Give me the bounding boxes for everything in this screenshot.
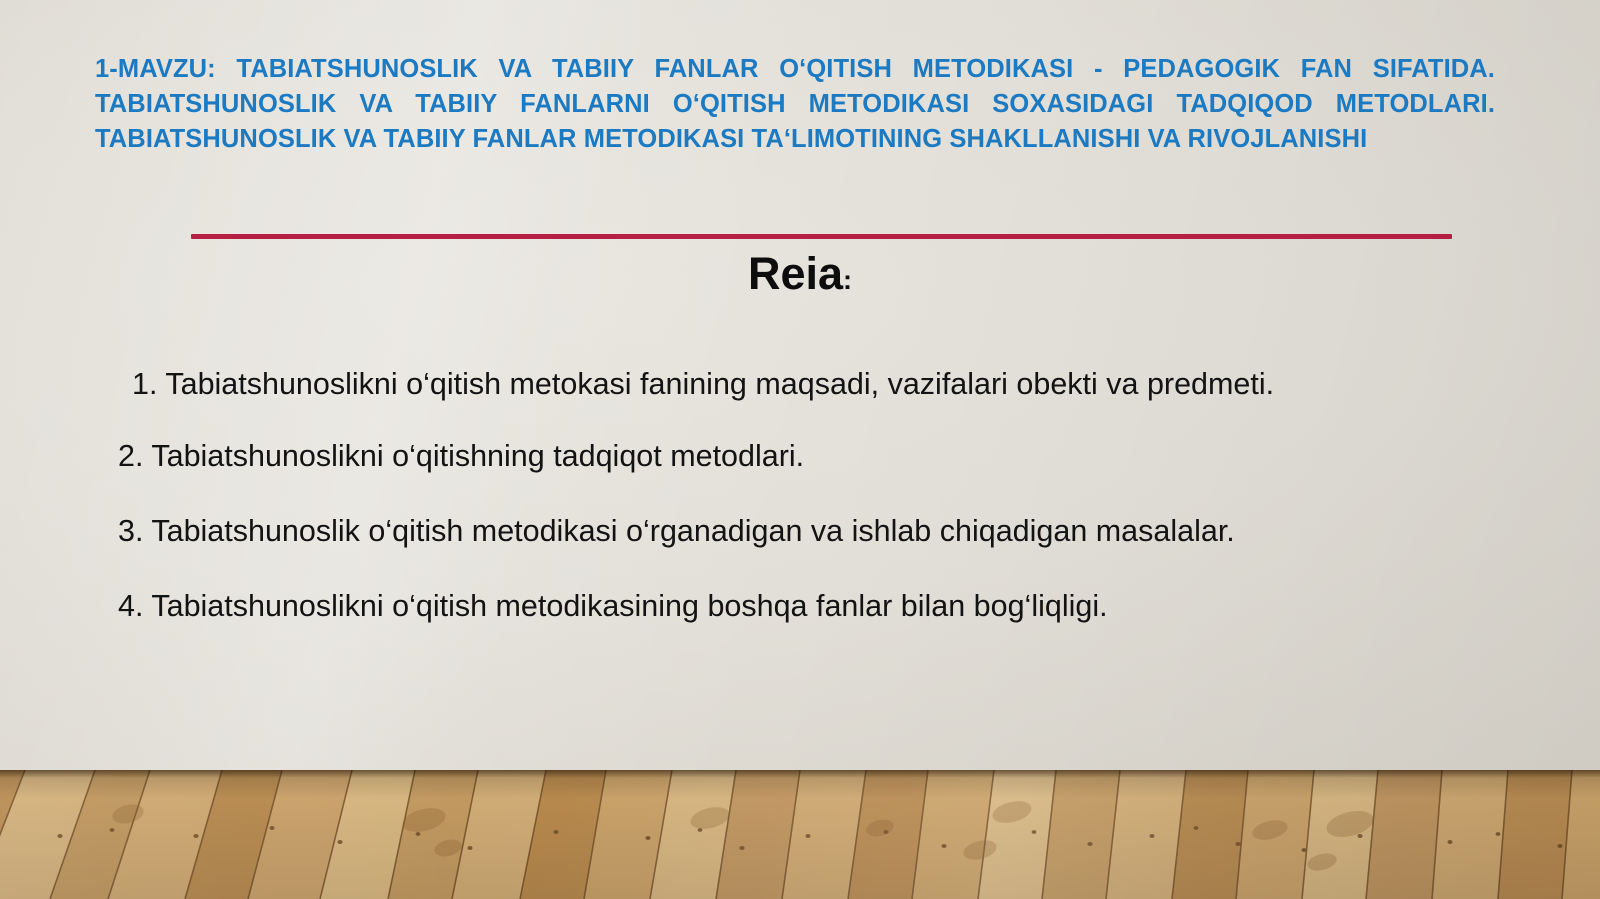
section-heading-text: Reia xyxy=(748,248,843,299)
list-item: 2. Tabiatshunoslikni o‘qitishning tadqiq… xyxy=(118,424,1452,488)
list-item: 1. Tabiatshunoslikni o‘qitish metokasi f… xyxy=(118,352,1452,416)
slide-content: 1-MAVZU: TABIATSHUNOSLIK VA TABIIY FANLA… xyxy=(0,0,1600,899)
presentation-slide: 1-MAVZU: TABIATSHUNOSLIK VA TABIIY FANLA… xyxy=(0,0,1600,899)
section-heading: Reia: xyxy=(0,246,1600,308)
page-title: 1-MAVZU: TABIATSHUNOSLIK VA TABIIY FANLA… xyxy=(95,52,1495,157)
title-divider-rule xyxy=(191,234,1452,239)
list-item: 4. Tabiatshunoslikni o‘qitish metodikasi… xyxy=(118,574,1452,638)
list-item: 3. Tabiatshunoslik o‘qitish metodikasi o… xyxy=(118,499,1452,563)
agenda-list: 1. Tabiatshunoslikni o‘qitish metokasi f… xyxy=(118,352,1452,638)
section-heading-colon: : xyxy=(843,265,852,295)
